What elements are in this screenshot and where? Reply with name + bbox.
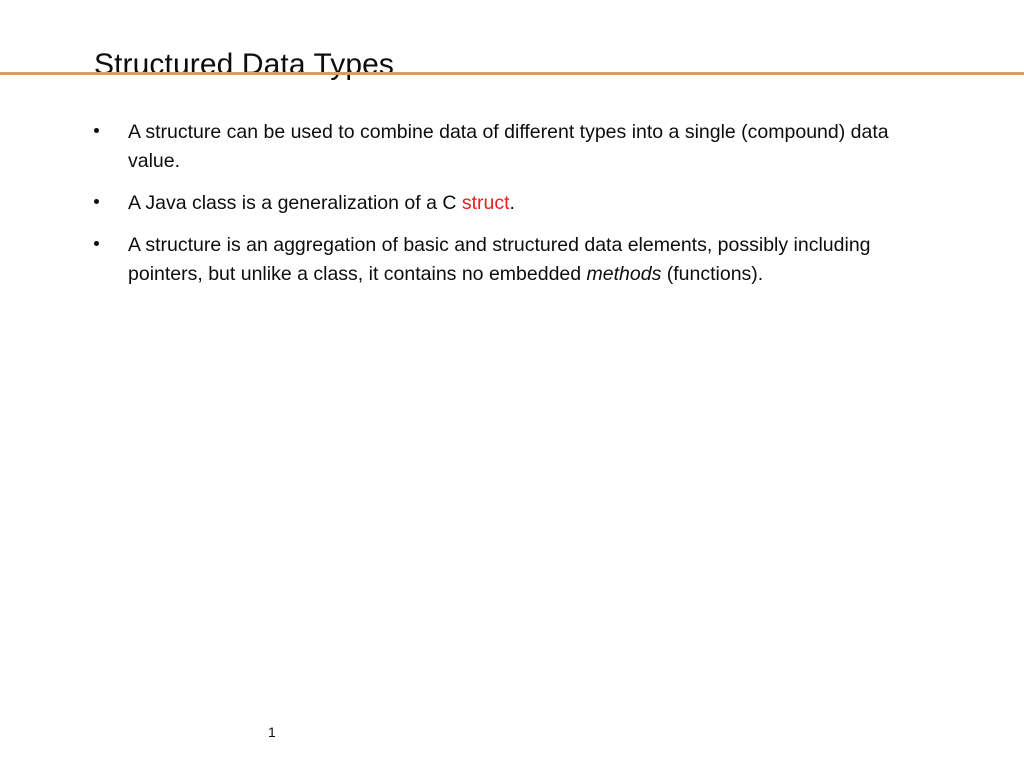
list-item-text: A structure is an aggregation of basic a… xyxy=(128,231,918,289)
list-item-text: A structure can be used to combine data … xyxy=(128,118,918,176)
list-item-text: A Java class is a generalization of a C … xyxy=(128,189,918,218)
bullet-list: A structure can be used to combine data … xyxy=(88,118,944,289)
bullet-dot-icon xyxy=(94,128,99,133)
slide-number: 1 xyxy=(268,723,276,741)
page-title: Structured Data Types xyxy=(94,45,954,85)
bullet-dot-icon xyxy=(94,199,99,204)
highlighted-keyword: struct xyxy=(462,192,510,214)
text-run: . xyxy=(510,192,515,214)
title-divider xyxy=(0,72,1024,75)
slide-canvas: Structured Data Types A structure can be… xyxy=(0,0,1024,768)
list-item: A structure is an aggregation of basic a… xyxy=(88,231,944,289)
text-run: A Java class is a generalization of a C xyxy=(128,192,462,214)
emphasized-term: methods xyxy=(587,263,662,285)
list-item: A Java class is a generalization of a C … xyxy=(88,189,944,218)
list-item: A structure can be used to combine data … xyxy=(88,118,944,176)
text-run: A structure can be used to combine data … xyxy=(128,121,889,172)
bullet-dot-icon xyxy=(94,241,99,246)
text-run: (functions). xyxy=(661,263,763,285)
